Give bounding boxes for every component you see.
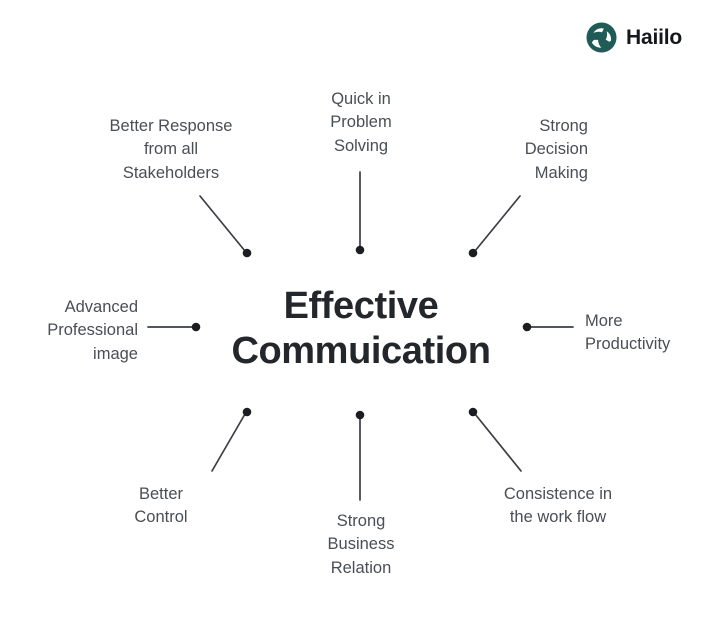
node-label-strong-decision-making: Strong Decision Making bbox=[478, 115, 588, 185]
brand-logo: Haiilo bbox=[586, 22, 682, 53]
haiilo-swirl-icon bbox=[586, 22, 617, 53]
connector-dot-strong-decision-making bbox=[469, 249, 478, 258]
node-label-strong-business-relation: Strong Business Relation bbox=[305, 510, 417, 580]
connector-dot-better-control bbox=[243, 408, 252, 417]
connector-line-strong-decision-making bbox=[475, 196, 520, 251]
node-label-more-productivity: More Productivity bbox=[585, 310, 710, 357]
brand-name: Haiilo bbox=[626, 27, 682, 48]
connector-line-better-control bbox=[212, 414, 245, 471]
page-title-line-2: Commuication bbox=[196, 329, 526, 374]
page-title: Effective Commuication bbox=[196, 284, 526, 374]
connector-line-consistence-work-flow bbox=[475, 414, 521, 471]
node-label-advanced-professional-image: Advanced Professional image bbox=[18, 296, 138, 366]
connector-dot-consistence-work-flow bbox=[469, 408, 478, 417]
node-label-better-response: Better Response from all Stakeholders bbox=[86, 115, 256, 185]
connector-line-better-response bbox=[200, 196, 245, 251]
diagram-canvas: Haiilo Effective Commuication Better Res… bbox=[0, 0, 720, 629]
connector-dot-better-response bbox=[243, 249, 252, 258]
node-label-better-control: Better Control bbox=[106, 483, 216, 530]
connector-dot-quick-problem-solving bbox=[356, 246, 365, 255]
node-label-quick-problem-solving: Quick in Problem Solving bbox=[303, 88, 419, 158]
connector-dot-strong-business-relation bbox=[356, 411, 365, 420]
node-label-consistence-work-flow: Consistence in the work flow bbox=[478, 483, 638, 530]
page-title-line-1: Effective bbox=[196, 284, 526, 329]
